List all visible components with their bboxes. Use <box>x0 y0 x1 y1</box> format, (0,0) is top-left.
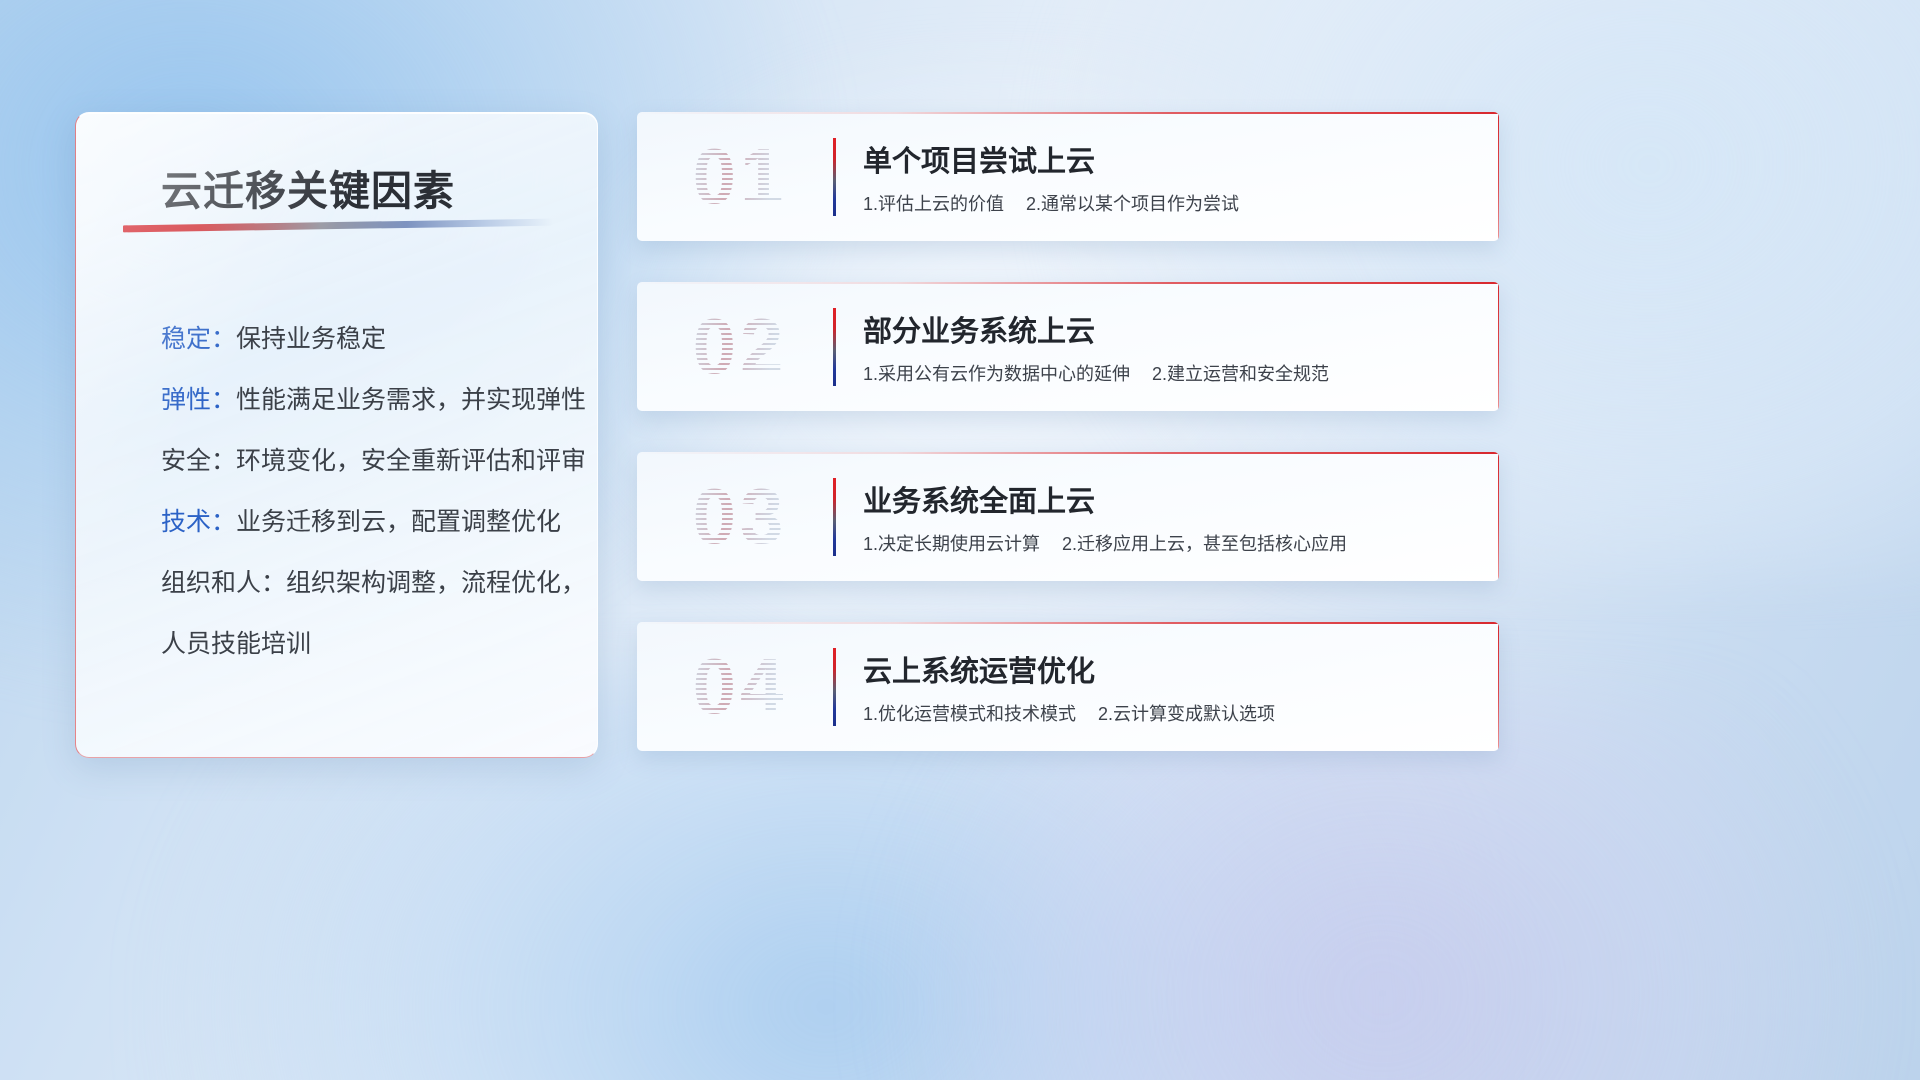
list-item: 弹性：性能满足业务需求，并实现弹性 <box>161 370 571 431</box>
stage-title: 云上系统运营优化 <box>863 648 1095 690</box>
stage-number-red-overlay: 04 <box>665 638 815 734</box>
stage-title: 单个项目尝试上云 <box>863 138 1095 180</box>
list-item: 稳定：保持业务稳定 <box>161 309 571 370</box>
stage-description-part-1: 1.优化运营模式和技术模式 <box>863 704 1076 724</box>
stage-description: 1.采用公有云作为数据中心的延伸2.建立运营和安全规范 <box>863 360 1329 386</box>
list-item-label: 技术： <box>161 508 236 536</box>
stage-title: 部分业务系统上云 <box>863 308 1095 350</box>
divider-bar <box>833 478 836 556</box>
stage-description-part-2: 2.建立运营和安全规范 <box>1152 364 1329 384</box>
list-item: 人员技能培训 <box>161 614 571 675</box>
stage-card[interactable]: 03 03 业务系统全面上云 1.决定长期使用云计算2.迁移应用上云，甚至包括核… <box>637 452 1499 581</box>
title-underline-gradient <box>123 219 553 233</box>
stage-description: 1.评估上云的价值2.通常以某个项目作为尝试 <box>863 190 1239 216</box>
divider-bar <box>833 138 836 216</box>
stage-number-red-overlay: 01 <box>665 128 815 224</box>
stage-card[interactable]: 04 04 云上系统运营优化 1.优化运营模式和技术模式2.云计算变成默认选项 <box>637 622 1499 751</box>
stage-card[interactable]: 02 02 部分业务系统上云 1.采用公有云作为数据中心的延伸2.建立运营和安全… <box>637 282 1499 411</box>
stage-number-red-overlay: 03 <box>665 468 815 564</box>
divider-bar <box>833 648 836 726</box>
list-item-text: 性能满足业务需求，并实现弹性 <box>236 386 586 414</box>
page-title: 云迁移关键因素 <box>161 157 455 217</box>
list-item-text: 人员技能培训 <box>161 630 311 658</box>
list-item: 组织和人：组织架构调整，流程优化， <box>161 553 571 614</box>
key-factors-panel: 云迁移关键因素 稳定：保持业务稳定 弹性：性能满足业务需求，并实现弹性 安全：环… <box>75 112 598 758</box>
stage-description-part-2: 2.通常以某个项目作为尝试 <box>1026 194 1239 214</box>
stage-description-part-1: 1.决定长期使用云计算 <box>863 534 1040 554</box>
key-factors-list: 稳定：保持业务稳定 弹性：性能满足业务需求，并实现弹性 安全：环境变化，安全重新… <box>161 309 571 675</box>
stage-description: 1.决定长期使用云计算2.迁移应用上云，甚至包括核心应用 <box>863 530 1347 556</box>
stage-description: 1.优化运营模式和技术模式2.云计算变成默认选项 <box>863 700 1275 726</box>
list-item-label: 稳定： <box>161 325 236 353</box>
stage-card[interactable]: 01 01 单个项目尝试上云 1.评估上云的价值2.通常以某个项目作为尝试 <box>637 112 1499 241</box>
stage-number-red-overlay: 02 <box>665 298 815 394</box>
stage-number: 02 02 <box>665 298 815 394</box>
stage-description-part-1: 1.评估上云的价值 <box>863 194 1004 214</box>
list-item-text: 环境变化，安全重新评估和评审 <box>236 447 586 475</box>
stage-description-part-2: 2.云计算变成默认选项 <box>1098 704 1275 724</box>
divider-bar <box>833 308 836 386</box>
stage-description-part-2: 2.迁移应用上云，甚至包括核心应用 <box>1062 534 1347 554</box>
list-item-label: 安全： <box>161 447 236 475</box>
list-item: 安全：环境变化，安全重新评估和评审 <box>161 431 571 492</box>
list-item-text: 业务迁移到云，配置调整优化 <box>236 508 561 536</box>
list-item: 技术：业务迁移到云，配置调整优化 <box>161 492 571 553</box>
stage-number: 04 04 <box>665 638 815 734</box>
list-item-label: 弹性： <box>161 386 236 414</box>
list-item-text: 组织架构调整，流程优化， <box>286 569 586 597</box>
stage-description-part-1: 1.采用公有云作为数据中心的延伸 <box>863 364 1130 384</box>
stage-card-list: 01 01 单个项目尝试上云 1.评估上云的价值2.通常以某个项目作为尝试 02… <box>637 112 1499 792</box>
stage-title: 业务系统全面上云 <box>863 478 1095 520</box>
stage-number: 03 03 <box>665 468 815 564</box>
list-item-label: 组织和人： <box>161 569 286 597</box>
list-item-text: 保持业务稳定 <box>236 325 386 353</box>
stage-number: 01 01 <box>665 128 815 224</box>
